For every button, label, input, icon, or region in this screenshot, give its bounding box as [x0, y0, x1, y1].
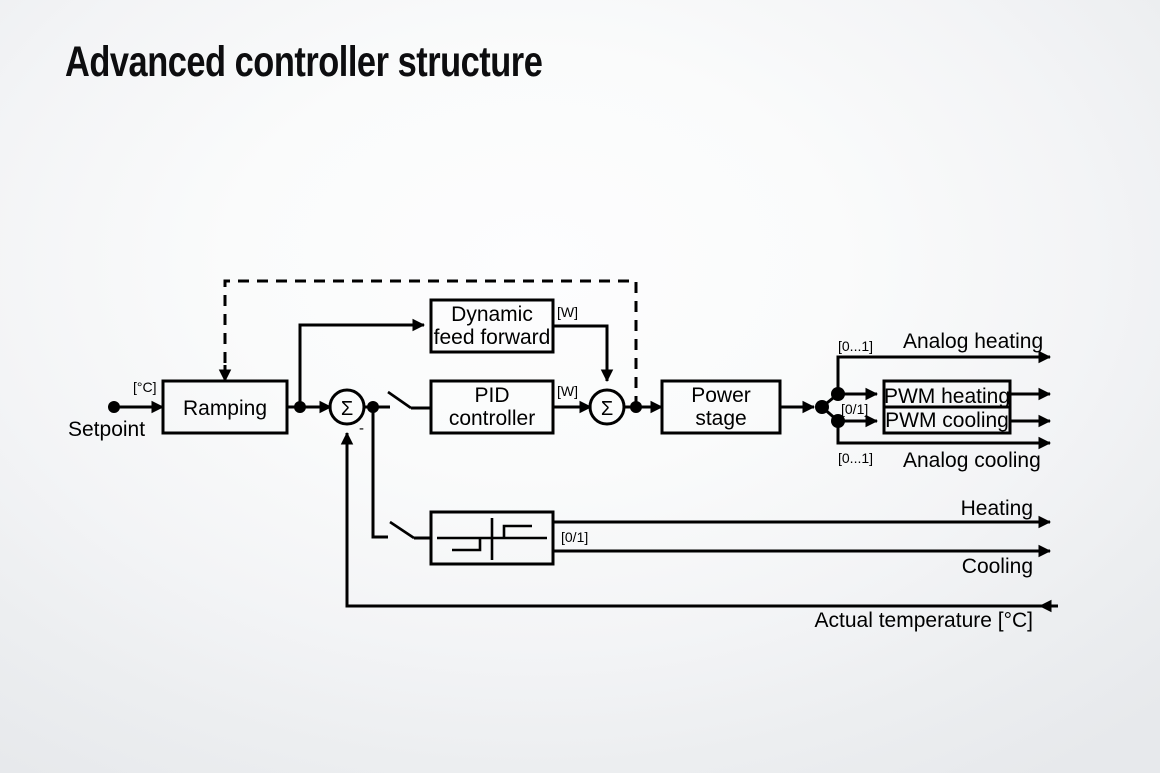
pid-output-unit: [W]: [557, 383, 578, 399]
ramping-block[interactable]: Ramping: [163, 381, 287, 433]
feedforward-branch-wire: [300, 325, 424, 407]
sum-junction-1[interactable]: Σ -: [330, 390, 364, 437]
pid-switch-blade[interactable]: [388, 392, 411, 408]
hysteresis-switch-blade[interactable]: [390, 522, 414, 538]
hysteresis-block[interactable]: [0/1]: [431, 512, 588, 564]
ramping-label: Ramping: [183, 397, 267, 420]
pwm-blocks-group[interactable]: PWM heating PWM cooling: [884, 381, 1050, 433]
cooling-label: Cooling: [962, 555, 1033, 578]
pwm-unit-label: [0/1]: [841, 401, 868, 417]
pwm-cooling-label: PWM cooling: [885, 409, 1009, 432]
onoff-output-wires: [553, 522, 1050, 551]
dynamic-feedforward-label-line1: Dynamic: [451, 303, 533, 326]
analog-heating-label: Analog heating: [903, 330, 1043, 353]
power-stage-label-line1: Power: [691, 384, 751, 407]
sum2-output-node: [630, 401, 642, 413]
power-stage-label-line2: stage: [695, 407, 746, 430]
setpoint-unit-label: [°C]: [133, 379, 157, 395]
feedforward-output-unit: [W]: [557, 304, 578, 320]
sum1-to-hysteresis-wire: [373, 407, 388, 537]
power-stage-block[interactable]: Power stage: [662, 381, 814, 433]
sum-junction-2[interactable]: Σ: [590, 390, 624, 424]
hysteresis-output-unit: [0/1]: [561, 529, 588, 545]
hysteresis-input-group: [373, 407, 431, 538]
setpoint-label: Setpoint: [68, 418, 145, 441]
pid-controller-block[interactable]: PID controller [W]: [431, 381, 591, 433]
sum-junction-2-symbol: Σ: [601, 398, 613, 420]
analog-heating-unit: [0...1]: [838, 338, 873, 354]
pwm-heating-label: PWM heating: [884, 385, 1010, 408]
power-stage-input-group: [624, 401, 662, 413]
heating-label: Heating: [961, 497, 1033, 520]
setpoint-input-group: Setpoint [°C]: [68, 379, 163, 441]
actual-temperature-label: Actual temperature [°C]: [815, 609, 1034, 632]
analog-cooling-unit: [0...1]: [838, 450, 873, 466]
slide-canvas: Advanced controller structure Setpoint […: [0, 0, 1160, 773]
analog-cooling-label: Analog cooling: [903, 449, 1041, 472]
dynamic-feedforward-block[interactable]: Dynamic feed forward [W]: [431, 300, 607, 381]
pid-controller-label-line1: PID: [474, 384, 509, 407]
sum-junction-1-symbol: Σ: [341, 398, 353, 420]
sum-junction-1-minus-sign: -: [359, 420, 364, 437]
output-labels-group: Analog heating Analog cooling Heating Co…: [903, 330, 1043, 578]
dynamic-feedforward-label-line2: feed forward: [434, 326, 551, 349]
controller-block-diagram: Setpoint [°C] Ramping Σ -: [0, 0, 1160, 773]
pid-controller-label-line2: controller: [449, 407, 535, 430]
feedforward-to-sum2-wire: [553, 326, 607, 381]
